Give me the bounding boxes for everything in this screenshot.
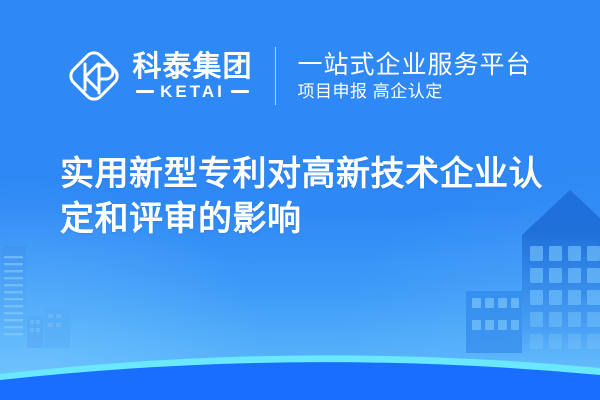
- company-name-cn: 科泰集团: [132, 52, 252, 82]
- company-name-en: KETAI: [160, 83, 225, 100]
- dash-left-icon: [136, 90, 154, 93]
- dash-right-icon: [231, 90, 249, 93]
- slogan-main-text: 一站式企业服务平台: [298, 51, 532, 79]
- promo-banner: 科泰集团 KETAI 一站式企业服务平台 项目申报 高企认定 实用新型专利对高新…: [0, 0, 600, 400]
- brand-text-block: 科泰集团 KETAI: [132, 52, 252, 100]
- company-name-en-row: KETAI: [136, 83, 249, 100]
- ketai-logo-icon: [68, 48, 120, 104]
- slogan-block: 一站式企业服务平台 项目申报 高企认定: [298, 51, 532, 102]
- slogan-sub-text: 项目申报 高企认定: [298, 82, 532, 102]
- header-divider: [275, 47, 276, 105]
- brand-lockup[interactable]: 科泰集团 KETAI: [68, 48, 252, 104]
- banner-header: 科泰集团 KETAI 一站式企业服务平台 项目申报 高企认定: [0, 38, 600, 114]
- page-title: 实用新型专利对高新技术企业认定和评审的影响: [60, 152, 560, 242]
